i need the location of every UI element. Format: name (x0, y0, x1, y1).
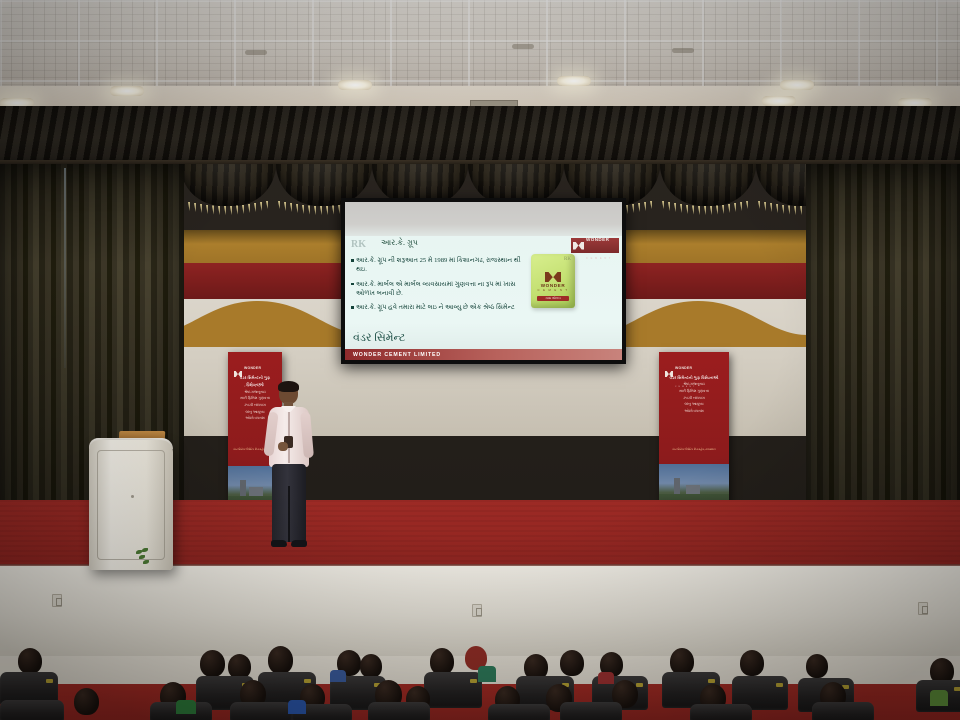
slide-bullet: આર.કે. ગ્રૂપ ની શરૂઆત 25 મે 1989 માં કિશ… (351, 256, 523, 275)
presenter-standing (266, 382, 312, 550)
wonder-w-mark-icon (545, 272, 561, 282)
podium-hinge (131, 495, 134, 498)
bag-grade-strip: ખાસ ઓળખ (537, 296, 569, 301)
slide-bullet: આર.કે. ગ્રૂપ હવે તમારા માટે લઇ ને આવ્યુ … (351, 303, 523, 312)
banner-subtext: વંડર સિમેન્ટ લિમિટેડ નિમ્બાહેડા, રાજસ્થા… (663, 448, 725, 452)
audience-chair (488, 704, 550, 720)
audience-head (806, 654, 828, 678)
audience-shirt (288, 700, 306, 714)
audience-chair (368, 702, 430, 720)
logo-name: WONDER (586, 237, 609, 242)
audience-head (18, 648, 42, 674)
audience-shirt (330, 670, 346, 682)
chair-tag (776, 683, 783, 687)
speaker-podium[interactable] (89, 440, 173, 570)
banner-line: સારી ફિનિશ ગુણવત્તા (662, 388, 726, 395)
audience-head (200, 650, 225, 677)
chair-tag (46, 679, 53, 683)
banner-line: લાંબુ આયુષ્ય (662, 401, 726, 408)
recessed-ceiling-light (557, 76, 591, 86)
curtain-valance-top (0, 106, 960, 164)
ceiling-vent (512, 44, 534, 49)
banner-logo-name: WONDER (244, 366, 261, 370)
banner-line: ઝડપી બાંધકામ (662, 395, 726, 402)
audience-head (268, 646, 293, 674)
wall-socket[interactable] (472, 604, 482, 617)
audience-head (740, 650, 764, 676)
audience-head (560, 650, 584, 676)
audience-shirt (176, 700, 196, 714)
banner-line: ઓછો વપરાશ (662, 408, 726, 415)
ceiling-vent (245, 50, 267, 55)
banner-line: વંડર સિમેન્ટની ગુણ વિશેષતાઓ (662, 374, 726, 381)
wall-socket[interactable] (52, 594, 62, 607)
recessed-ceiling-light (762, 96, 796, 106)
swag-fringe (660, 200, 756, 216)
curtain-swag (180, 164, 276, 206)
slide-footer: WONDER CEMENT LIMITED (345, 349, 622, 360)
audience-chair (690, 704, 752, 720)
presenter-shoe (291, 540, 307, 547)
wall-socket[interactable] (918, 602, 928, 615)
wonder-cement-logo: WONDER C E M E N T (571, 238, 619, 253)
ceiling-vent (672, 48, 694, 53)
recessed-ceiling-light (338, 80, 372, 90)
rollup-banner-right: WONDER C E M E N T વંડર સિમેન્ટની ગુણ વિ… (659, 352, 729, 518)
chair-tag (304, 679, 311, 683)
audience-chair (230, 702, 292, 720)
audience-chair (0, 700, 64, 720)
chair-tag (470, 679, 477, 683)
audience-head (360, 654, 382, 678)
banner-line: શ્રેષ્ઠ મજબૂતાઇ (662, 381, 726, 388)
swag-fringe (180, 200, 276, 216)
audience-shirt (598, 672, 614, 684)
audience-chair (812, 702, 874, 720)
cement-bag-image: RK WONDER C E M E N T ખાસ ઓળખ (531, 254, 575, 308)
auditorium-scene: RK આર.કે. ગ્રૂપ WONDER C E M E N T આર.કે… (0, 0, 960, 720)
banner-logo-name: WONDER (675, 366, 692, 370)
slide-headline: વંડર સિમેન્ટ (353, 332, 405, 345)
rk-watermark: RK (351, 239, 366, 250)
audience-shirt (930, 690, 948, 706)
slide-footer-text: WONDER CEMENT LIMITED (345, 352, 441, 358)
presenter-trousers (272, 464, 306, 542)
podium-plant-decoration (136, 548, 150, 570)
slide-title: આર.કે. ગ્રૂપ (381, 238, 418, 248)
presenter-hair (278, 381, 299, 392)
hanging-cable (64, 168, 66, 368)
banner-text-lines: વંડર સિમેન્ટની ગુણ વિશેષતાઓ શ્રેષ્ઠ મજબૂ… (662, 374, 726, 415)
audience-shirt (478, 666, 496, 682)
audience-head (430, 648, 454, 675)
audience-chair (560, 702, 622, 720)
recessed-ceiling-light (780, 80, 814, 90)
presenter-hand (278, 442, 288, 451)
slide-bullet: આર.કે. માર્બલ એ માર્બલ વ્યવસાયમાં ગુણવત્… (351, 280, 523, 299)
presentation-slide: RK આર.કે. ગ્રૂપ WONDER C E M E N T આર.કે… (345, 236, 622, 360)
bag-sub: C E M E N T (536, 288, 570, 292)
bag-corner-mark: RK (564, 257, 571, 262)
podium-front-panel (97, 450, 165, 560)
recessed-ceiling-light (110, 86, 144, 96)
curtain-swag (660, 164, 756, 206)
chair-tag (708, 679, 715, 683)
bag-grade-text: ખાસ ઓળખ (537, 296, 569, 301)
logo-sub: C E M E N T (586, 257, 612, 260)
slide-bullet-list: આર.કે. ગ્રૂપ ની શરૂઆત 25 મે 1989 માં કિશ… (351, 256, 523, 318)
chair-tag (954, 687, 960, 691)
audience-head (74, 688, 99, 715)
wonder-w-mark-icon (573, 242, 584, 250)
presenter-shoe (271, 540, 287, 547)
audience-chair (424, 672, 482, 708)
chair-tag (636, 683, 643, 687)
projection-screen[interactable]: RK આર.કે. ગ્રૂપ WONDER C E M E N T આર.કે… (345, 202, 622, 360)
audience-head (670, 648, 694, 675)
